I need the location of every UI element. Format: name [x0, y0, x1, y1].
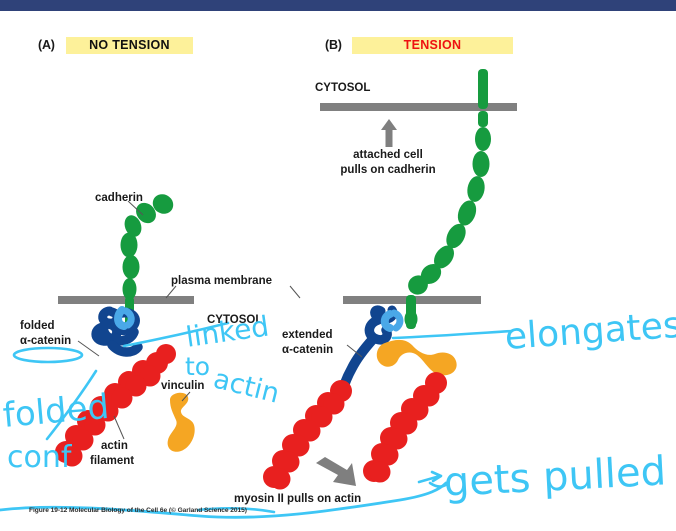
label-folded-catenin-line1: folded: [20, 320, 55, 333]
label-extended-catenin-line2: α-catenin: [282, 344, 333, 357]
label-actin-line1: actin: [101, 440, 128, 453]
label-myosin-pulls: myosin II pulls on actin: [234, 493, 361, 506]
label-cytosol-upper-b: CYTOSOL: [315, 82, 370, 95]
leader-actin-a: [114, 416, 124, 439]
label-attached-cell-line1: attached cell: [330, 149, 446, 162]
panel-a-letter: (A): [38, 38, 55, 52]
label-actin-line2: filament: [90, 455, 134, 468]
label-plasma-membrane: plasma membrane: [171, 275, 272, 288]
ink-ellipse-folded-catenin: [14, 348, 82, 362]
slide-header-bar: [0, 0, 676, 11]
label-folded-catenin-line2: α-catenin: [20, 335, 71, 348]
vinculin-a: [168, 393, 195, 452]
actin-filament-b-right: [363, 372, 447, 483]
cadherin-a: [121, 190, 177, 325]
annotation-conf: conf: [7, 440, 71, 475]
panel-b-title: TENSION: [352, 37, 513, 54]
ink-line-elongates: [393, 331, 512, 338]
panel-b-letter: (B): [325, 38, 342, 52]
annotation-to: to: [185, 352, 210, 381]
arrow-myosin-pull: [316, 457, 356, 486]
figure-caption: Figure 19-12 Molecular Biology of the Ce…: [29, 507, 247, 514]
panel-a-title: NO TENSION: [66, 37, 193, 54]
label-attached-cell-line2: pulls on cadherin: [330, 164, 446, 177]
slide-canvas: (A) NO TENSION cadherin plasma membrane …: [0, 0, 676, 531]
leader-plasma-membrane-b: [290, 286, 300, 298]
label-extended-catenin-line1: extended: [282, 329, 333, 342]
figure-area: (A) NO TENSION cadherin plasma membrane …: [0, 11, 676, 531]
vinculin-b: [377, 340, 457, 375]
label-vinculin: vinculin: [161, 380, 204, 393]
label-cadherin: cadherin: [95, 192, 143, 205]
arrow-attached-cell-pull: [381, 119, 397, 147]
